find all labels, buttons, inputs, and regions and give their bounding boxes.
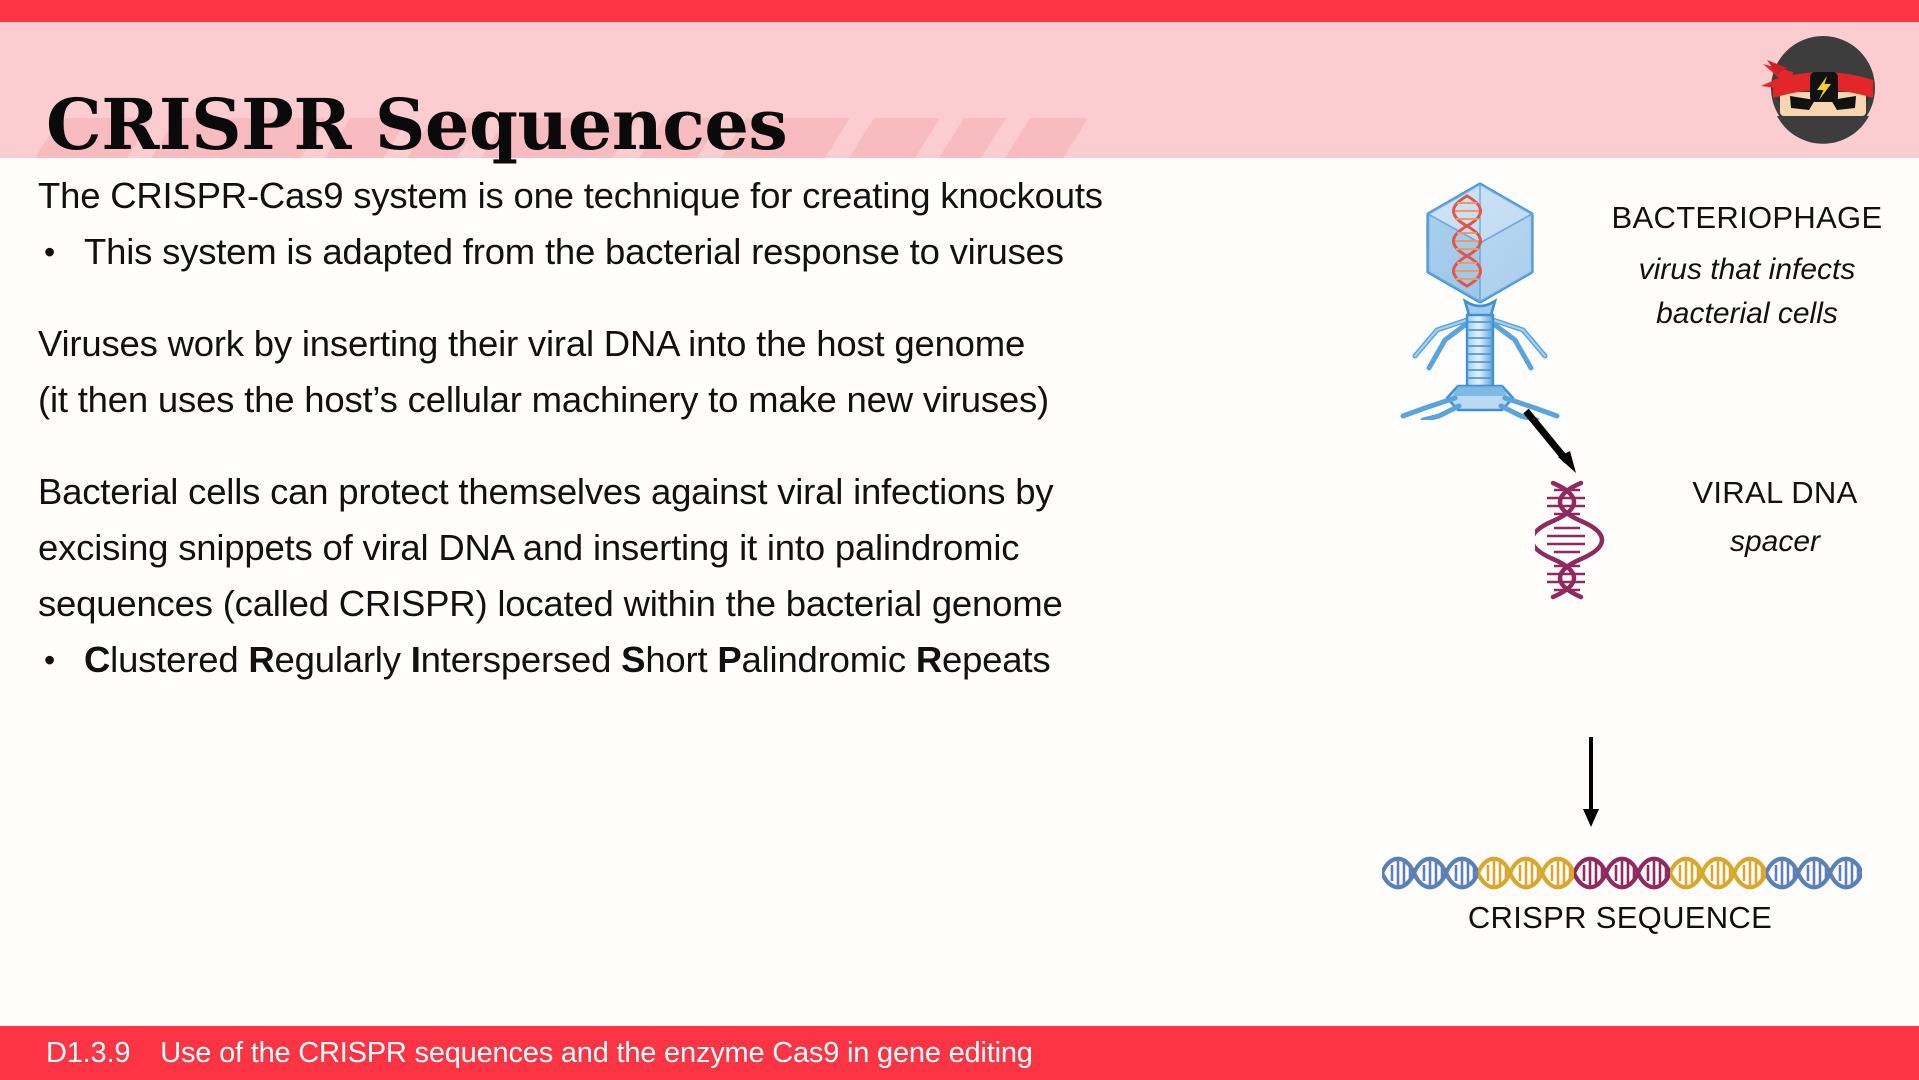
crispr-dna-strip-icon — [1382, 850, 1862, 896]
bacteriophage-icon — [1385, 170, 1575, 420]
bacteriophage-sublabel-line-1: virus that infects — [1582, 248, 1912, 292]
paragraph-spacer-2 — [38, 428, 1338, 464]
slide-body: The CRISPR-Cas9 system is one technique … — [38, 168, 1338, 688]
acronym-initial: C — [84, 639, 110, 680]
viral-dna-label: VIRAL DNA — [1630, 475, 1919, 511]
page-title: CRISPR Sequences — [46, 83, 787, 166]
top-accent-bar — [0, 0, 1919, 22]
acronym-text: epeats — [942, 639, 1050, 680]
acronym-text: lustered — [110, 639, 248, 680]
bullet-marker: • — [38, 632, 84, 688]
crispr-sequence-label: CRISPR SEQUENCE — [1350, 900, 1890, 936]
bullet-item-1-label: This system is adapted from the bacteria… — [84, 224, 1064, 280]
bacteriophage-sublabel-line-2: bacterial cells — [1582, 292, 1912, 336]
acronym-initial: S — [621, 639, 645, 680]
paragraph-spacer — [38, 280, 1338, 316]
bacteriophage-sublabel: virus that infects bacterial cells — [1582, 248, 1912, 335]
dna-helix-icon — [1535, 475, 1607, 605]
arrow-down-icon — [1578, 735, 1604, 830]
footer-text: Use of the CRISPR sequences and the enzy… — [160, 1037, 1032, 1069]
footer-code: D1.3.9 — [46, 1037, 130, 1069]
paragraph-3-line-1: Bacterial cells can protect themselves a… — [38, 464, 1338, 520]
viral-dna-sublabel: spacer — [1630, 525, 1919, 559]
acronym-text: alindromic — [742, 639, 916, 680]
ninja-head-icon — [1757, 24, 1883, 150]
paragraph-3-line-3: sequences (called CRISPR) located within… — [38, 576, 1338, 632]
illustration-column: BACTERIOPHAGE virus that infects bacteri… — [1350, 160, 1919, 1010]
arrow-diagonal-down-right-icon — [1520, 405, 1590, 485]
bacteriophage-label: BACTERIOPHAGE — [1582, 200, 1912, 236]
bullet-item-1: • This system is adapted from the bacter… — [38, 224, 1338, 280]
acronym-initial: P — [717, 639, 741, 680]
acronym-initial: I — [411, 639, 421, 680]
bullet-item-2: • Clustered Regularly Interspersed Short… — [38, 632, 1338, 688]
acronym-text: egularly — [275, 639, 411, 680]
acronym-text: hort — [645, 639, 717, 680]
acronym-initial: R — [248, 639, 274, 680]
acronym-text: nterspersed — [421, 639, 622, 680]
footer-content: D1.3.9Use of the CRISPR sequences and th… — [46, 1026, 1033, 1080]
paragraph-2-line-1: Viruses work by inserting their viral DN… — [38, 316, 1338, 372]
paragraph-1: The CRISPR-Cas9 system is one technique … — [38, 168, 1338, 224]
acronym-initial: R — [916, 639, 942, 680]
slide-footer: D1.3.9Use of the CRISPR sequences and th… — [0, 1026, 1919, 1080]
paragraph-3-line-2: excising snippets of viral DNA and inser… — [38, 520, 1338, 576]
bullet-marker: • — [38, 224, 84, 280]
bullet-item-2-label: Clustered Regularly Interspersed Short P… — [84, 632, 1050, 688]
paragraph-2-line-2: (it then uses the host’s cellular machin… — [38, 372, 1338, 428]
